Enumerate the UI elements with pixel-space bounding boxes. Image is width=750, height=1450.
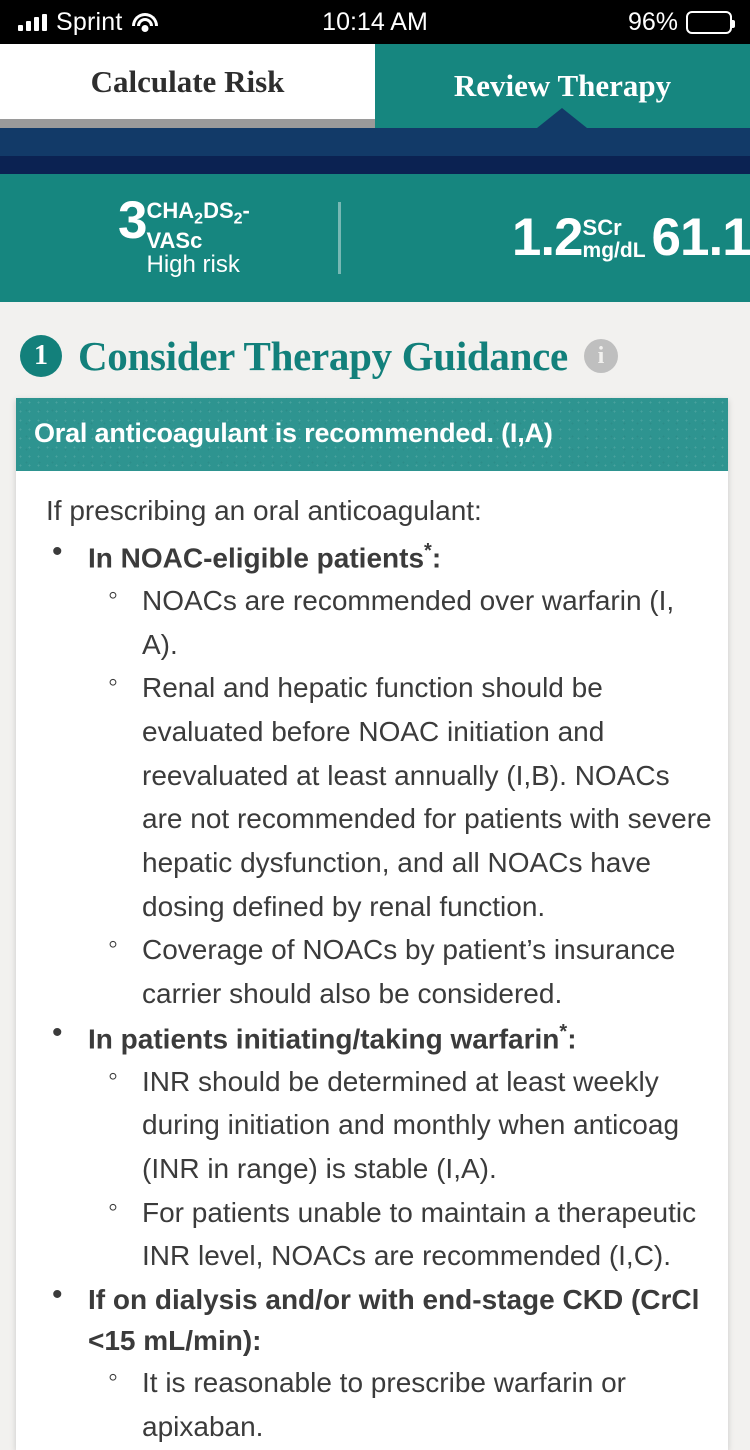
tab-review-therapy-label: Review Therapy — [454, 68, 671, 104]
guidance-body: If prescribing an oral anticoagulant: In… — [16, 471, 728, 1448]
signal-bars-icon — [18, 14, 47, 31]
sub-list-item: For patients unable to maintain a therap… — [88, 1191, 712, 1278]
scr-labels: SCr mg/dL — [583, 214, 646, 263]
scr-label: SCr — [583, 216, 646, 239]
tab-calculate-risk[interactable]: Calculate Risk — [0, 44, 375, 128]
wifi-icon — [132, 13, 158, 32]
chads-vasc-name: CHA2DS2-VASc — [146, 199, 249, 251]
navy-band-upper — [0, 128, 750, 156]
step-number-badge: 1 — [20, 335, 62, 377]
metric-crcl[interactable]: 61.1 CrCl mL/min — [652, 214, 750, 263]
sub-bullet-text: NOACs are recommended over warfarin (I, … — [142, 585, 674, 660]
metrics-right-group: 1.2 SCr mg/dL 61.1 CrCl mL/min — [512, 214, 750, 263]
page-title: Consider Therapy Guidance — [78, 332, 568, 380]
guidance-bullet-list: In NOAC-eligible patients*:NOACs are rec… — [32, 537, 712, 1448]
status-left: Sprint — [18, 8, 158, 37]
carrier-label: Sprint — [56, 8, 123, 37]
tab-bar: Calculate Risk Review Therapy — [0, 44, 750, 128]
sub-list-item: INR should be determined at least weekly… — [88, 1060, 712, 1191]
sub-bullet-text: Coverage of NOACs by patient’s insurance… — [142, 934, 675, 1009]
tab-calculate-risk-label: Calculate Risk — [91, 64, 285, 100]
list-item: In patients initiating/taking warfarin*:… — [32, 1018, 712, 1278]
sub-bullet-text: For patients unable to maintain a therap… — [142, 1197, 696, 1272]
scr-unit: mg/dL — [583, 239, 646, 263]
list-item: In NOAC-eligible patients*:NOACs are rec… — [32, 537, 712, 1016]
guidance-lead-text: If prescribing an oral anticoagulant: — [32, 487, 712, 537]
bullet-heading: In NOAC-eligible patients*: — [88, 537, 712, 579]
list-item: If on dialysis and/or with end-stage CKD… — [32, 1280, 712, 1449]
scr-value: 1.2 — [512, 214, 583, 263]
sub-bullet-list: INR should be determined at least weekly… — [88, 1060, 712, 1278]
active-tab-pointer-icon — [537, 108, 587, 128]
chads-vasc-labels: CHA2DS2-VASc High risk — [146, 197, 249, 278]
recommendation-banner: Oral anticoagulant is recommended. (I,A) — [16, 398, 728, 471]
guidance-card: Oral anticoagulant is recommended. (I,A)… — [16, 398, 728, 1450]
sub-bullet-text: Renal and hepatic function should be eva… — [142, 672, 712, 921]
sub-bullet-text: It is reasonable to prescribe warfarin o… — [142, 1367, 626, 1442]
sub-list-item: Renal and hepatic function should be eva… — [88, 666, 712, 928]
sub-bullet-list: It is reasonable to prescribe warfarin o… — [88, 1361, 712, 1448]
section-header: 1 Consider Therapy Guidance i — [0, 302, 750, 398]
crcl-value: 61.1 — [652, 214, 750, 263]
navy-band-lower — [0, 156, 750, 174]
sub-bullet-text: INR should be determined at least weekly… — [142, 1066, 679, 1184]
metric-scr[interactable]: 1.2 SCr mg/dL — [512, 214, 646, 263]
sub-bullet-list: NOACs are recommended over warfarin (I, … — [88, 579, 712, 1016]
battery-percent-label: 96% — [628, 8, 678, 37]
metrics-divider — [338, 202, 341, 274]
footnote-marker: * — [424, 540, 432, 562]
chads-vasc-value: 3 — [118, 197, 146, 246]
bullet-heading: In patients initiating/taking warfarin*: — [88, 1018, 712, 1060]
status-bar: Sprint 10:14 AM 96% — [0, 0, 750, 44]
chads-vasc-risk-label: High risk — [146, 252, 249, 279]
bullet-heading: If on dialysis and/or with end-stage CKD… — [88, 1280, 712, 1361]
info-icon[interactable]: i — [584, 339, 618, 373]
sub-list-item: Coverage of NOACs by patient’s insurance… — [88, 928, 712, 1015]
sub-list-item: NOACs are recommended over warfarin (I, … — [88, 579, 712, 666]
battery-icon — [686, 11, 732, 34]
metrics-bar: 3 CHA2DS2-VASc High risk 1.2 SCr mg/dL 6… — [0, 174, 750, 302]
footnote-marker: * — [559, 1021, 567, 1043]
sub-list-item: It is reasonable to prescribe warfarin o… — [88, 1361, 712, 1448]
metric-chads-vasc[interactable]: 3 CHA2DS2-VASc High risk — [118, 197, 250, 278]
status-right: 96% — [628, 8, 732, 37]
